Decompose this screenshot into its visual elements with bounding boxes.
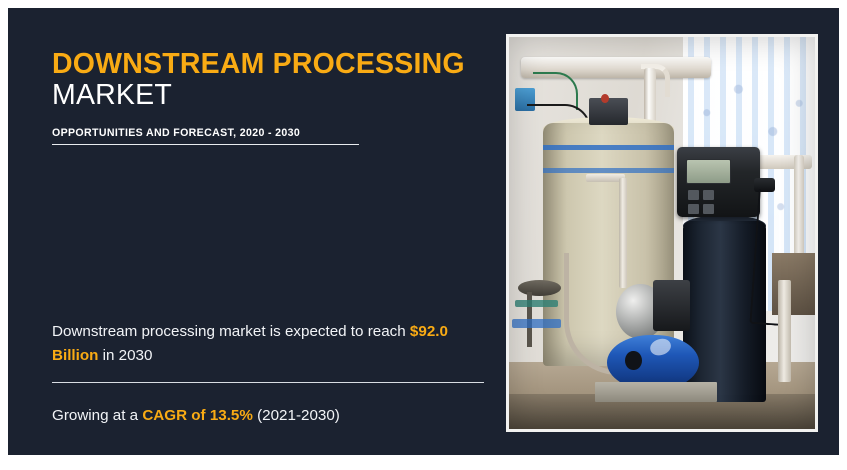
subtitle-underline: OPPORTUNITIES AND FORECAST, 2020 - 2030 bbox=[52, 127, 359, 145]
market-value-trail: in 2030 bbox=[98, 347, 152, 364]
photo-frame bbox=[506, 34, 818, 432]
photo-vignette bbox=[509, 37, 815, 429]
subtitle-text: OPPORTUNITIES AND FORECAST, 2020 - 2030 bbox=[52, 127, 359, 139]
cagr-lead: Growing at a bbox=[52, 407, 142, 424]
page-title: DOWNSTREAM PROCESSING MARKET bbox=[52, 50, 492, 110]
cagr-statement: Growing at a CAGR of 13.5% (2021-2030) bbox=[52, 404, 492, 428]
section-divider bbox=[52, 382, 484, 383]
market-value-statement: Downstream processing market is expected… bbox=[52, 320, 492, 368]
cagr-highlight: CAGR of 13.5% bbox=[142, 407, 253, 424]
market-value-text: Downstream processing market is expected… bbox=[52, 320, 492, 368]
cagr-text: Growing at a CAGR of 13.5% (2021-2030) bbox=[52, 404, 492, 428]
title-line-primary: DOWNSTREAM PROCESSING bbox=[52, 50, 492, 79]
water-treatment-photo bbox=[509, 37, 815, 429]
text-column: DOWNSTREAM PROCESSING MARKET OPPORTUNITI… bbox=[44, 8, 494, 455]
market-report-banner: DOWNSTREAM PROCESSING MARKET OPPORTUNITI… bbox=[8, 8, 839, 455]
title-line-secondary: MARKET bbox=[52, 81, 492, 110]
cagr-trail: (2021-2030) bbox=[253, 407, 340, 424]
market-value-lead: Downstream processing market is expected… bbox=[52, 323, 410, 340]
